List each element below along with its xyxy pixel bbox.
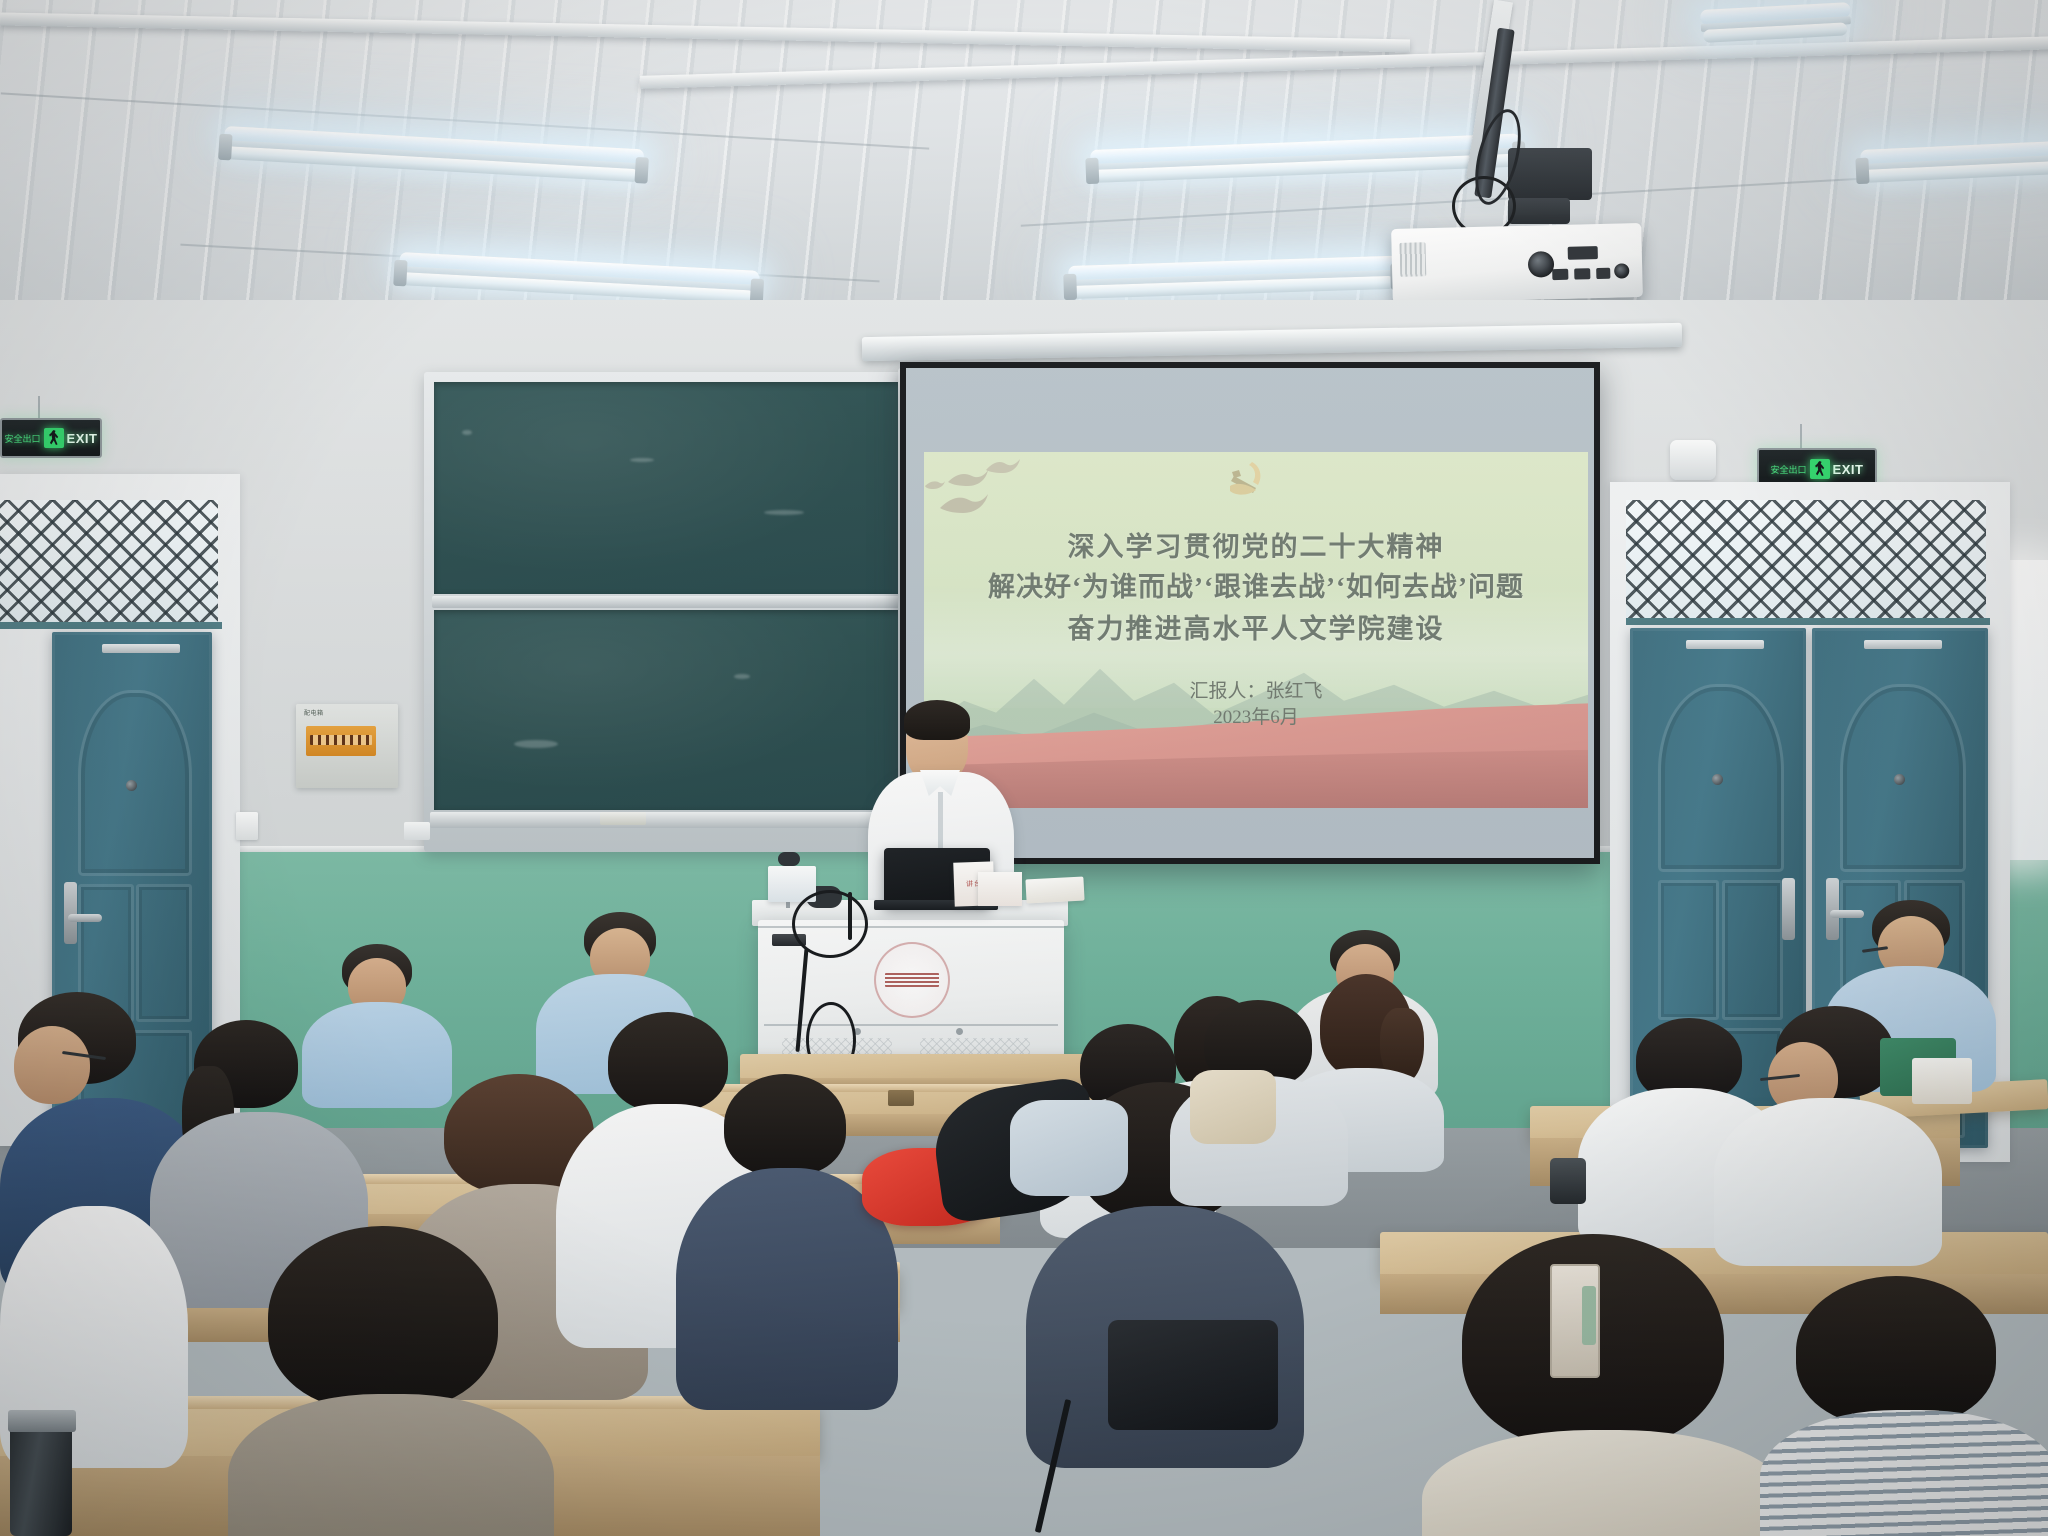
slide-title-line-1: 深入学习贯彻党的二十大精神	[924, 530, 1588, 565]
hair-clip	[1550, 1264, 1600, 1378]
transom-sill-right	[1626, 618, 1990, 625]
door-panel-right-a2	[1722, 880, 1783, 1020]
slide-date: 2023年6月	[924, 704, 1588, 732]
electrical-breaker-box: 配电箱	[296, 704, 398, 788]
chalk-rail-bottom	[430, 812, 906, 828]
attendee-torso	[1422, 1430, 1788, 1536]
exit-sign-left-cn: 安全出口	[5, 432, 41, 445]
exit-sign-right-en: EXIT	[1833, 462, 1864, 477]
chalk-rail-middle	[432, 596, 904, 608]
chalkboard-eraser	[600, 812, 646, 825]
slide-presenter-label: 汇报人：张红飞	[924, 678, 1588, 706]
attendee-foreground-hairclip	[1422, 1234, 1792, 1536]
exit-sign-left-en: EXIT	[67, 431, 98, 446]
transom-lattice-left	[0, 500, 218, 626]
transom-window-right	[1626, 500, 1986, 622]
attendee-torso-striped	[1760, 1410, 2048, 1536]
door-peephole-left	[126, 780, 137, 791]
attendee-near-navy	[676, 1074, 900, 1404]
door-peephole-right-a	[1712, 774, 1723, 785]
door-peephole-right-b	[1894, 774, 1905, 785]
door-plate-right-b	[1864, 640, 1942, 649]
light-blue-bag	[1010, 1100, 1128, 1196]
wall-light-switch[interactable]	[236, 812, 258, 840]
dove-icon-2	[984, 456, 1022, 478]
attendee-head	[14, 1026, 90, 1104]
lectern-university-crest	[874, 942, 950, 1018]
projector-bracket	[1508, 148, 1592, 200]
breaker-window	[306, 726, 376, 756]
door-panel-right-a1	[1658, 880, 1719, 1020]
transom-window-left	[0, 500, 218, 626]
ceiling-projector	[1391, 223, 1643, 303]
microphone-head	[778, 852, 800, 866]
name-placard-b	[978, 872, 1022, 906]
door-lever-left[interactable]	[68, 914, 102, 922]
exit-sign-right-hanger	[1800, 424, 1802, 448]
lecture-hall-photo: 安全出口 EXIT 安全出口 EXIT	[0, 0, 2048, 1536]
dove-icon-4	[924, 478, 946, 490]
cable-loop-1	[792, 890, 868, 958]
attendee-hair	[268, 1226, 498, 1410]
attendee-torso	[228, 1394, 554, 1536]
attendee-hair	[1796, 1276, 1996, 1426]
slide-title-line-2: 解决好‘为谁而战’‘跟谁去战’‘如何去战’问题	[924, 570, 1588, 605]
attendee-foreground-striped	[1760, 1276, 2048, 1536]
wall-speaker	[1670, 440, 1716, 480]
wall-outlet[interactable]	[404, 822, 430, 840]
exit-sign-left: 安全出口 EXIT	[0, 418, 102, 458]
door-handle-left[interactable]	[64, 882, 77, 944]
black-shoulder-bag	[1108, 1320, 1278, 1430]
hammer-and-sickle-emblem	[1226, 458, 1270, 500]
thermos-flask	[10, 1418, 72, 1536]
attendee-hair	[724, 1074, 846, 1176]
exit-sign-right-cn: 安全出口	[1771, 463, 1807, 476]
door-plate-right-a	[1686, 640, 1764, 649]
small-device-on-desk	[1550, 1158, 1586, 1204]
dove-icon-3	[938, 490, 990, 516]
presenter-hair	[904, 700, 970, 740]
papers-on-lectern	[1025, 876, 1084, 903]
running-man-icon-right	[1810, 459, 1830, 479]
transom-sill-left	[0, 622, 222, 629]
thermos-lid	[8, 1410, 76, 1432]
running-man-icon	[44, 428, 64, 448]
door-plate-left	[102, 644, 180, 653]
projector-bracket-lower	[1508, 198, 1570, 224]
chalkboard-left	[424, 372, 926, 852]
beige-bag	[1190, 1070, 1276, 1144]
door-handle-right-a[interactable]	[1782, 878, 1795, 940]
exit-sign-left-hanger	[38, 396, 40, 418]
lectern-screw-right	[956, 1028, 963, 1035]
breaker-box-label: 配电箱	[304, 708, 324, 717]
chalkboard-panel-upper	[434, 382, 902, 594]
presentation-slide: 深入学习贯彻党的二十大精神 解决好‘为谁而战’‘跟谁去战’‘如何去战’问题 奋力…	[924, 452, 1588, 808]
chalkboard-panel-lower	[434, 610, 902, 810]
transom-lattice-right	[1626, 500, 1986, 622]
slide-title-line-3: 奋力推进高水平人文学院建设	[924, 612, 1588, 647]
paper-stack-right	[1912, 1058, 1972, 1104]
attendee-foreground-left	[228, 1226, 558, 1536]
cable-run-2	[848, 892, 852, 940]
breaker-switch-row	[310, 735, 372, 745]
